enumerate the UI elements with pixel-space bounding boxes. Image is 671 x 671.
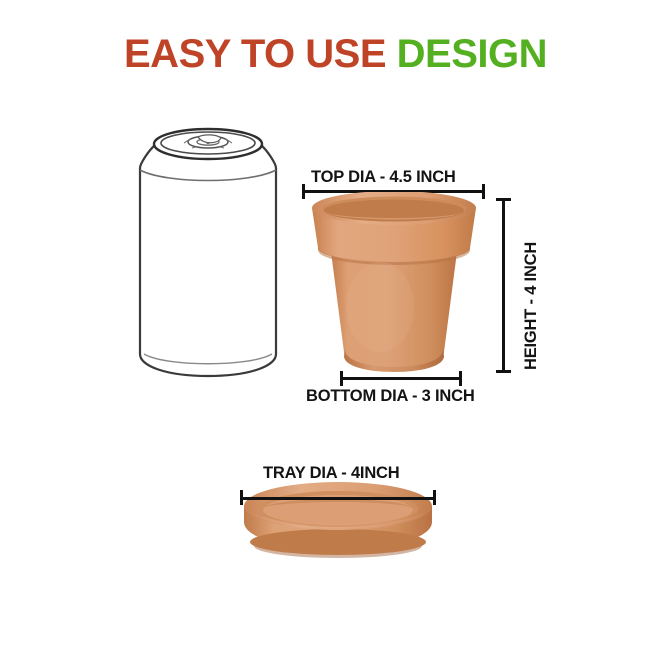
tray-diameter-line <box>240 497 436 500</box>
pot-height-cap-bottom <box>496 370 511 373</box>
pot-height-label: HEIGHT - 4 INCH <box>522 242 541 370</box>
pot-height-cap-top <box>496 198 511 201</box>
tray-diameter-cap-right <box>433 490 436 505</box>
pot-height-line <box>502 198 505 373</box>
terracotta-tray-illustration <box>240 480 436 560</box>
title-part-accent: DESIGN <box>397 32 547 76</box>
title-part-primary: EASY TO USE <box>124 32 386 76</box>
tray-diameter-cap-left <box>240 490 243 505</box>
page-title: EASY TO USE DESIGN <box>0 32 671 77</box>
pot-bottom-diameter-line <box>340 377 462 380</box>
pot-svg <box>304 192 484 374</box>
pot-top-diameter-label: TOP DIA - 4.5 INCH <box>311 168 456 187</box>
pot-height-label-wrapper: HEIGHT - 4 INCH <box>522 242 541 370</box>
pot-bottom-diameter-cap-left <box>340 371 343 386</box>
soda-can-svg <box>126 126 290 382</box>
pot-bottom-diameter-cap-right <box>459 371 462 386</box>
can-body-outline <box>140 144 276 376</box>
infographic-canvas: EASY TO USE DESIGN TOP DIA - 4.5 INCH <box>0 0 671 671</box>
tray-base-ring <box>250 529 426 555</box>
pot-bottom-diameter-label: BOTTOM DIA - 3 INCH <box>306 387 475 406</box>
tray-svg <box>240 480 436 560</box>
terracotta-pot-illustration <box>304 192 484 374</box>
pot-body-highlight <box>346 262 414 352</box>
soda-can-illustration <box>126 126 290 382</box>
